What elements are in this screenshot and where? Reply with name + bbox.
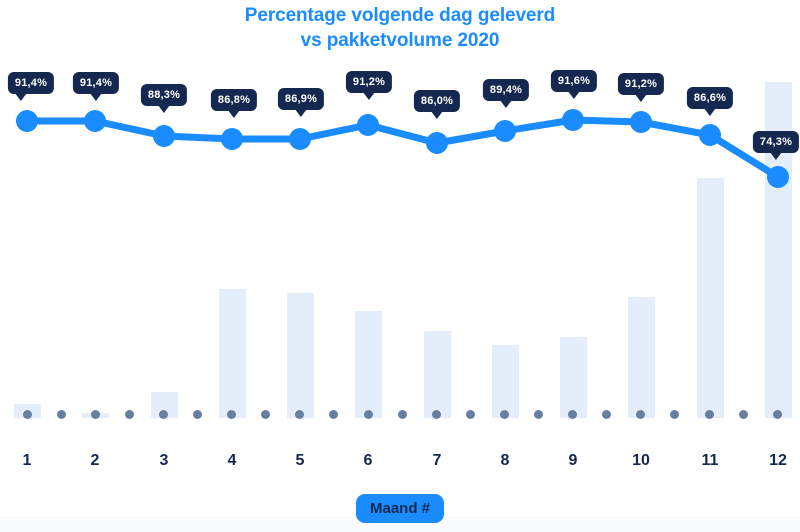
line-marker-month-6[interactable]: [357, 114, 379, 136]
line-marker-month-8[interactable]: [494, 120, 516, 142]
data-label-month-2: 91,4%: [73, 72, 119, 94]
line-marker-month-11[interactable]: [699, 124, 721, 146]
x-tick-label-5: 5: [296, 452, 305, 470]
x-tick-label-10: 10: [632, 452, 650, 470]
line-marker-month-7[interactable]: [426, 132, 448, 154]
line-marker-month-2[interactable]: [84, 110, 106, 132]
x-axis-title-wrap: Maand #: [0, 494, 800, 523]
line-series-svg: [0, 0, 800, 440]
x-tick-label-9: 9: [569, 452, 578, 470]
x-tick-label-7: 7: [433, 452, 442, 470]
x-tick-label-6: 6: [364, 452, 373, 470]
data-label-month-10: 91,2%: [618, 73, 664, 95]
line-series-path: [27, 120, 778, 177]
data-label-month-5: 86,9%: [278, 88, 324, 110]
data-label-month-6: 91,2%: [346, 71, 392, 93]
line-marker-month-9[interactable]: [562, 109, 584, 131]
x-tick-label-1: 1: [23, 452, 32, 470]
data-label-month-8: 89,4%: [483, 79, 529, 101]
line-marker-month-4[interactable]: [221, 128, 243, 150]
data-label-month-9: 91,6%: [551, 70, 597, 92]
data-label-month-1: 91,4%: [8, 72, 54, 94]
data-label-month-3: 88,3%: [141, 84, 187, 106]
line-markers-layer: [16, 109, 789, 188]
x-axis-title-badge: Maand #: [356, 494, 444, 523]
x-tick-label-3: 3: [160, 452, 169, 470]
line-marker-month-1[interactable]: [16, 110, 38, 132]
x-axis: 123456789101112: [0, 452, 800, 482]
x-tick-label-11: 11: [702, 452, 719, 470]
line-marker-month-5[interactable]: [289, 128, 311, 150]
line-marker-month-3[interactable]: [153, 125, 175, 147]
line-marker-month-10[interactable]: [630, 111, 652, 133]
plot-area: 91,4%91,4%88,3%86,8%86,9%91,2%86,0%89,4%…: [0, 0, 800, 440]
x-tick-label-8: 8: [501, 452, 510, 470]
data-label-month-12: 74,3%: [753, 131, 799, 153]
chart-page: Percentage volgende dag geleverd vs pakk…: [0, 0, 800, 532]
data-label-month-11: 86,6%: [687, 87, 733, 109]
line-marker-month-12[interactable]: [767, 166, 789, 188]
x-tick-label-2: 2: [91, 452, 100, 470]
x-tick-label-12: 12: [769, 452, 787, 470]
x-tick-label-4: 4: [228, 452, 237, 470]
data-label-month-7: 86,0%: [414, 90, 460, 112]
data-label-month-4: 86,8%: [211, 89, 257, 111]
